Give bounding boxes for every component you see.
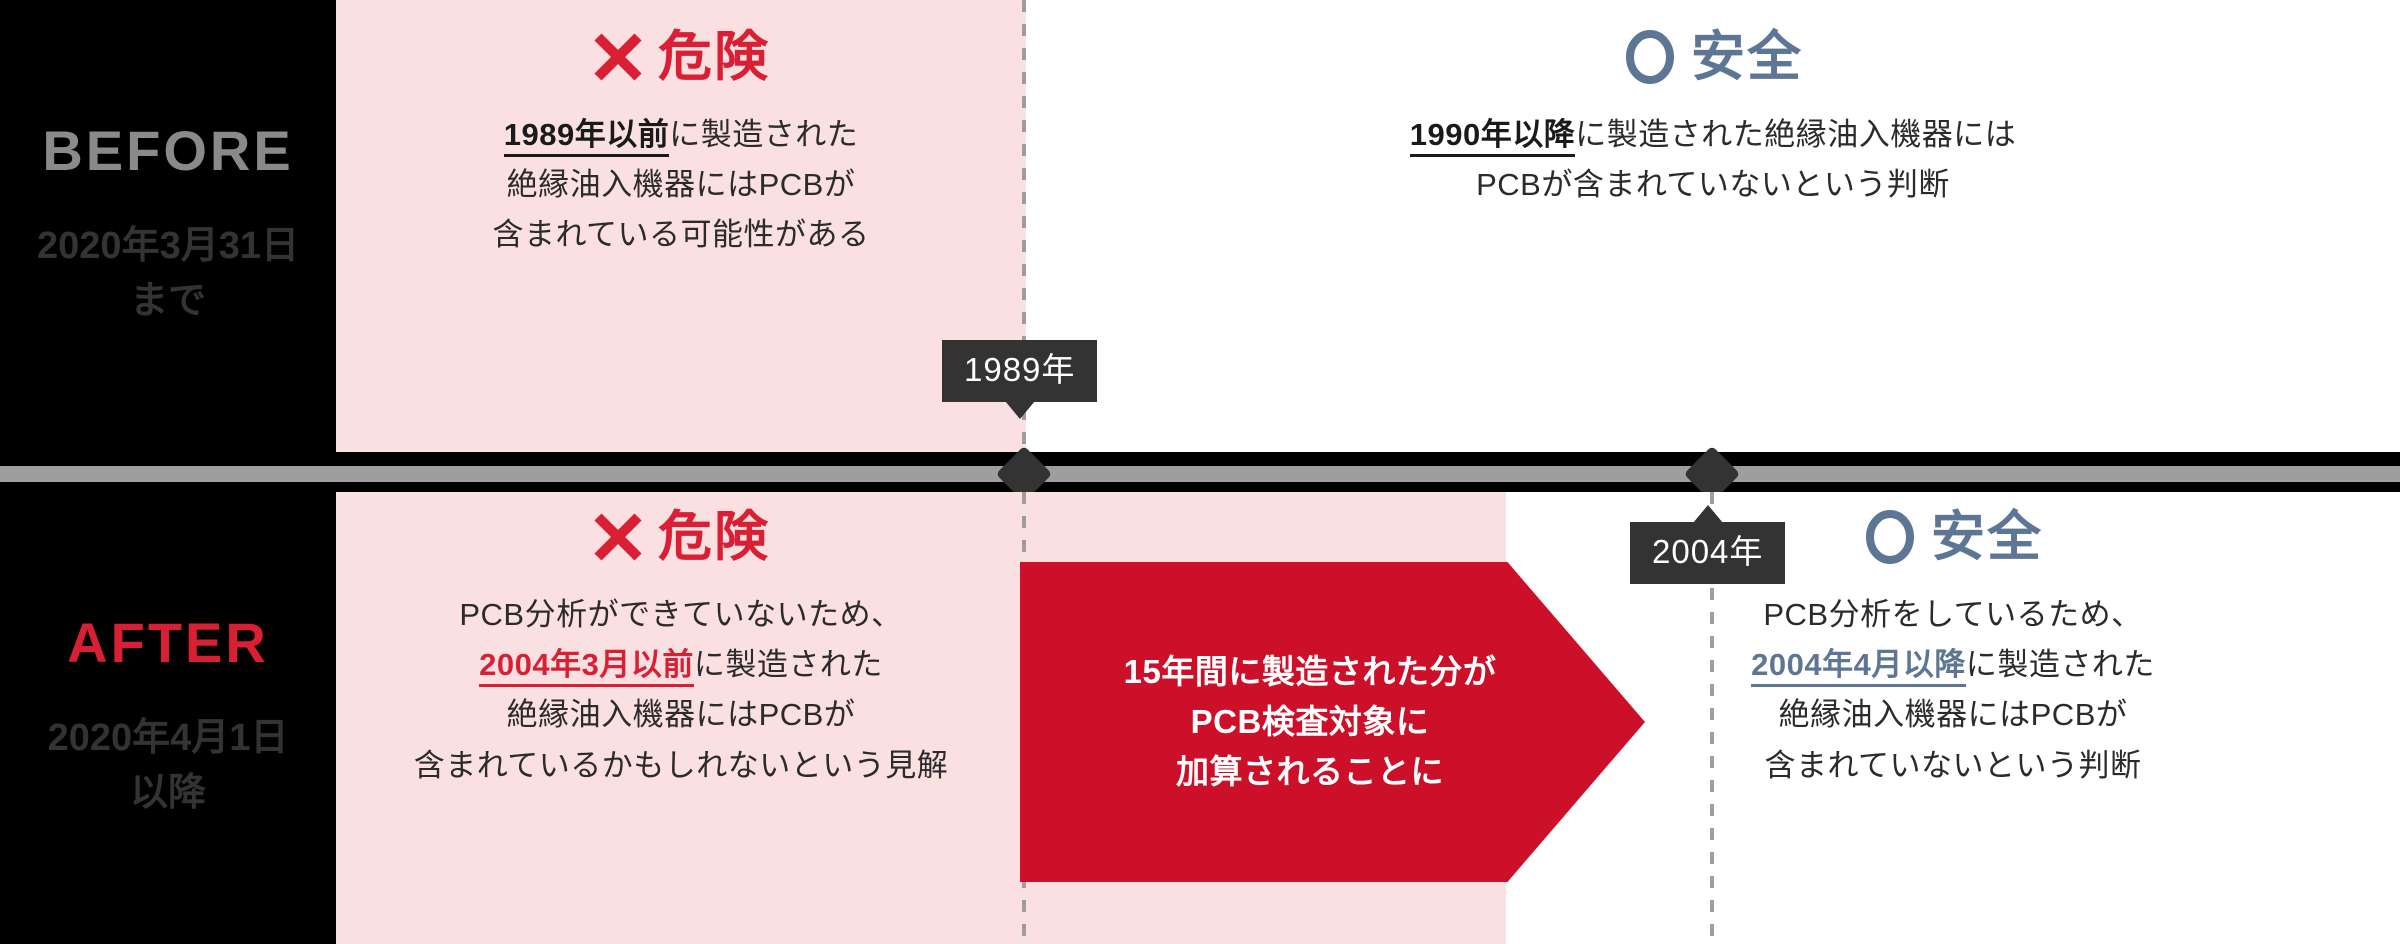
timeline: [0, 452, 2400, 492]
after-danger-body: PCB分析ができていないため、 2004年3月以前に製造された 絶縁油入機器には…: [414, 590, 949, 791]
year-badge-2004[interactable]: 2004年: [1630, 522, 1785, 584]
text-line: 2004年4月以降に製造された: [1751, 640, 2155, 690]
impact-arrow-text: 15年間に製造された分が PCB検査対象に 加算されることに: [1090, 647, 1530, 797]
year-badge-2004-text: 2004年: [1652, 533, 1763, 570]
after-date-line1: 2020年4月1日: [48, 717, 289, 759]
before-row: BEFORE 2020年3月31日 まで 危険 1989年以前に製造された 絶: [0, 0, 2400, 452]
after-phase-date: 2020年4月1日 以降: [48, 711, 289, 821]
after-label-column: AFTER 2020年4月1日 以降: [0, 492, 336, 944]
text-line: 含まれていないという判断: [1751, 741, 2155, 791]
text-line: 絶縁油入機器にはPCBが: [492, 160, 869, 210]
before-phase-title: BEFORE: [42, 123, 293, 179]
emphasis-1989-before: 1989年以前: [504, 117, 669, 157]
text-line: 絶縁油入機器にはPCBが: [414, 690, 949, 740]
before-date-line1: 2020年3月31日: [37, 225, 299, 267]
text-line: 含まれている可能性がある: [492, 210, 869, 260]
text-line: PCB分析ができていないため、: [414, 590, 949, 640]
after-date-line2: 以降: [48, 766, 289, 821]
year-badge-1989[interactable]: 1989年: [942, 340, 1097, 402]
badge-pointer-icon: [1005, 401, 1035, 419]
circle-mark-icon: [1623, 30, 1677, 84]
banner-line-3: 加算されることに: [1090, 747, 1530, 797]
after-safe-heading-text: 安全: [1931, 510, 2043, 564]
text-line: PCB分析をしているため、: [1751, 590, 2155, 640]
before-danger-heading: 危険: [592, 30, 770, 84]
text-line: 含まれているかもしれないという見解: [414, 741, 949, 791]
before-safe-panel: 安全 1990年以降に製造された絶縁油入機器には PCBが含まれていないという判…: [1026, 0, 2400, 452]
line-rest: に製造された: [1966, 647, 2155, 682]
timeline-bar: [0, 466, 2400, 482]
line-rest: に製造された: [669, 117, 858, 152]
after-safe-body: PCB分析をしているため、 2004年4月以降に製造された 絶縁油入機器にはPC…: [1751, 590, 2155, 791]
text-line: 1990年以降に製造された絶縁油入機器には: [1410, 110, 2016, 160]
before-safe-body: 1990年以降に製造された絶縁油入機器には PCBが含まれていないという判断: [1410, 110, 2016, 210]
text-line: PCBが含まれていないという判断: [1410, 160, 2016, 210]
before-danger-panel: 危険 1989年以前に製造された 絶縁油入機器にはPCBが 含まれている可能性が…: [336, 0, 1026, 452]
text-line: 1989年以前に製造された: [492, 110, 869, 160]
after-phase-title: AFTER: [67, 615, 269, 671]
before-date-line2: まで: [37, 274, 299, 329]
banner-line-1: 15年間に製造された分が: [1090, 647, 1530, 697]
x-mark-icon: [592, 31, 644, 83]
line-rest: に製造された絶縁油入機器には: [1575, 117, 2016, 152]
before-content: 危険 1989年以前に製造された 絶縁油入機器にはPCBが 含まれている可能性が…: [336, 0, 2400, 452]
emphasis-1990-after: 1990年以降: [1410, 117, 1575, 157]
line-rest: に製造された: [694, 647, 883, 682]
year-badge-1989-text: 1989年: [964, 351, 1075, 388]
text-line: 絶縁油入機器にはPCBが: [1751, 690, 2155, 740]
emphasis-2004-03-before: 2004年3月以前: [479, 647, 694, 687]
before-label-column: BEFORE 2020年3月31日 まで: [0, 0, 336, 452]
after-danger-heading: 危険: [592, 510, 770, 564]
before-safe-heading: 安全: [1623, 30, 1803, 84]
infographic-root: BEFORE 2020年3月31日 まで 危険 1989年以前に製造された 絶: [0, 0, 2400, 944]
before-danger-heading-text: 危険: [658, 30, 770, 84]
badge-pointer-icon: [1693, 505, 1723, 523]
circle-mark-icon: [1863, 510, 1917, 564]
text-line: 2004年3月以前に製造された: [414, 640, 949, 690]
x-mark-icon: [592, 511, 644, 563]
emphasis-2004-04-after: 2004年4月以降: [1751, 647, 1966, 687]
after-danger-panel: 危険 PCB分析ができていないため、 2004年3月以前に製造された 絶縁油入機…: [336, 492, 1026, 944]
banner-line-2: PCB検査対象に: [1090, 697, 1530, 747]
after-danger-heading-text: 危険: [658, 510, 770, 564]
before-danger-body: 1989年以前に製造された 絶縁油入機器にはPCBが 含まれている可能性がある: [492, 110, 869, 261]
after-safe-heading: 安全: [1863, 510, 2043, 564]
before-safe-heading-text: 安全: [1691, 30, 1803, 84]
before-phase-date: 2020年3月31日 まで: [37, 219, 299, 329]
